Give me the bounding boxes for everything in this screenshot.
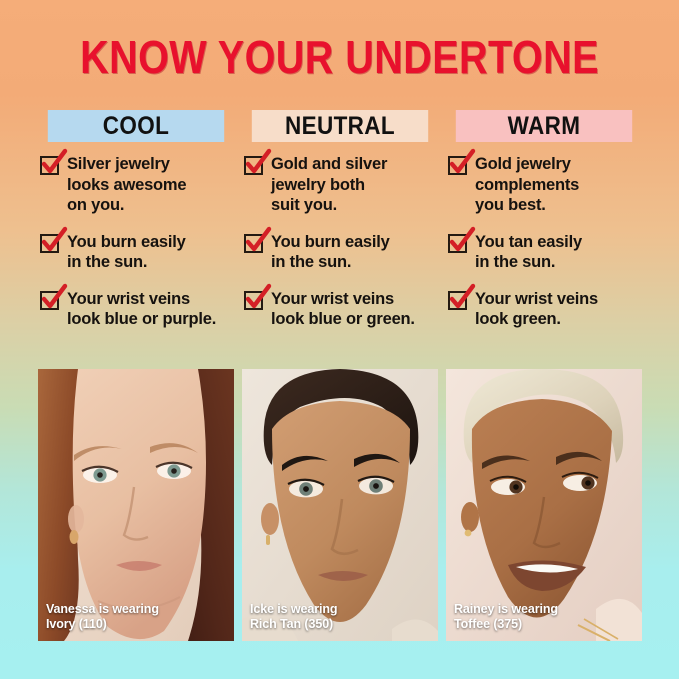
list-item: You tan easily in the sun. [448, 232, 642, 273]
list-item: You burn easily in the sun. [244, 232, 438, 273]
list-item-label: Your wrist veins look blue or purple. [67, 289, 216, 330]
list-item: You burn easily in the sun. [40, 232, 234, 273]
model-photo-icke: Icke is wearing Rich Tan (350) [242, 369, 438, 641]
list-item: Silver jewelry looks awesome on you. [40, 154, 234, 216]
photo-caption: Vanessa is wearing Ivory (110) [46, 602, 159, 631]
check-mark-icon [448, 234, 467, 253]
list-item-label: Your wrist veins look green. [475, 289, 598, 330]
list-item-label: You burn easily in the sun. [67, 232, 186, 273]
check-mark-icon [244, 234, 263, 253]
list-item-label: Gold and silver jewelry both suit you. [271, 154, 387, 216]
undertone-poster: KNOW YOUR UNDERTONE COOL Silver jewelry … [0, 0, 679, 679]
column-neutral: NEUTRAL Gold and silver jewelry both sui… [242, 110, 438, 330]
list-item: Your wrist veins look green. [448, 289, 642, 330]
photo-caption: Icke is wearing Rich Tan (350) [250, 602, 337, 631]
list-item-label: You burn easily in the sun. [271, 232, 390, 273]
list-item: Gold jewelry complements you best. [448, 154, 642, 216]
list-item-label: Silver jewelry looks awesome on you. [67, 154, 186, 216]
portrait-vanessa [38, 369, 234, 641]
check-mark-icon [448, 291, 467, 310]
model-photo-rainey: Rainey is wearing Toffee (375) [446, 369, 642, 641]
check-mark-icon [448, 156, 467, 175]
checklist-warm: Gold jewelry complements you best. You t… [446, 154, 642, 330]
portrait-icke [242, 369, 438, 641]
column-header-cool: COOL [48, 110, 224, 142]
list-item: Your wrist veins look blue or purple. [40, 289, 234, 330]
portrait-rainey [446, 369, 642, 641]
list-item: Gold and silver jewelry both suit you. [244, 154, 438, 216]
list-item-label: You tan easily in the sun. [475, 232, 582, 273]
check-mark-icon [40, 234, 59, 253]
list-item: Your wrist veins look blue or green. [244, 289, 438, 330]
list-item-label: Your wrist veins look blue or green. [271, 289, 415, 330]
check-mark-icon [40, 291, 59, 310]
photo-caption: Rainey is wearing Toffee (375) [454, 602, 558, 631]
list-item-label: Gold jewelry complements you best. [475, 154, 579, 216]
model-photo-vanessa: Vanessa is wearing Ivory (110) [38, 369, 234, 641]
column-header-warm: WARM [456, 110, 632, 142]
check-mark-icon [40, 156, 59, 175]
column-header-neutral: NEUTRAL [252, 110, 428, 142]
check-mark-icon [244, 156, 263, 175]
column-warm: WARM Gold jewelry complements you best. … [446, 110, 642, 330]
column-cool: COOL Silver jewelry looks awesome on you… [38, 110, 234, 330]
checklist-cool: Silver jewelry looks awesome on you. You… [38, 154, 234, 330]
checklist-neutral: Gold and silver jewelry both suit you. Y… [242, 154, 438, 330]
page-title: KNOW YOUR UNDERTONE [48, 31, 632, 83]
undertone-columns: COOL Silver jewelry looks awesome on you… [38, 110, 642, 330]
model-photos: Vanessa is wearing Ivory (110) [38, 369, 642, 641]
check-mark-icon [244, 291, 263, 310]
